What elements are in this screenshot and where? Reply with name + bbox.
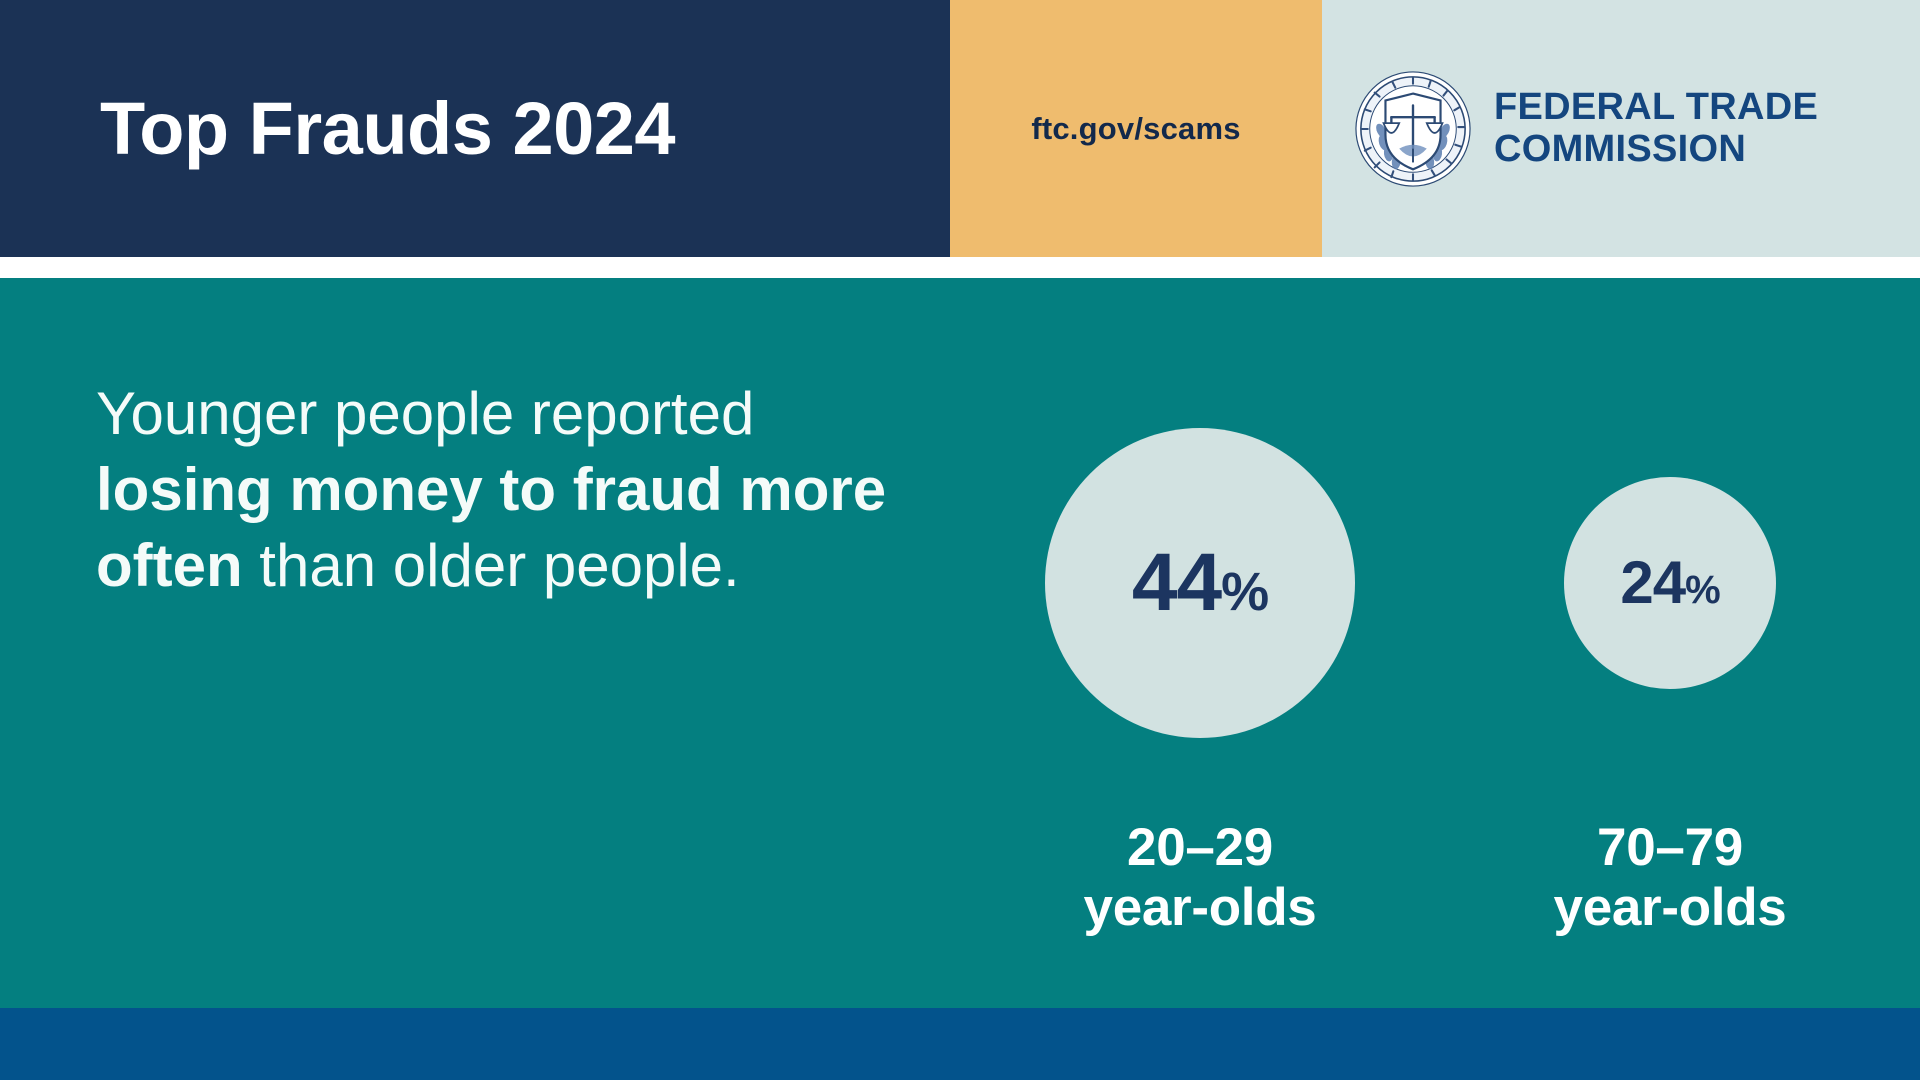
stat-bubble-wrapper: 44% xyxy=(1040,358,1360,808)
ftc-wordmark: FEDERAL TRADE COMMISSION xyxy=(1494,87,1818,169)
footer-accent-bar xyxy=(0,1008,1920,1080)
stat-group: 44% 20–29 year-olds 24% 70–79 year-olds xyxy=(1040,278,1860,1008)
ftc-scams-url[interactable]: ftc.gov/scams xyxy=(1031,111,1240,147)
header-title-band: Top Frauds 2024 xyxy=(0,0,950,257)
stat-label: 70–79 year-olds xyxy=(1510,818,1830,938)
header-logo-band: FEDERAL TRADE COMMISSION xyxy=(1322,0,1920,257)
stat-bubble-wrapper: 24% xyxy=(1510,358,1830,808)
stat-item-20-29: 44% 20–29 year-olds xyxy=(1040,278,1360,1008)
stat-bubble: 24% xyxy=(1564,477,1776,689)
stat-item-70-79: 24% 70–79 year-olds xyxy=(1510,278,1830,1008)
header: Top Frauds 2024 ftc.gov/scams xyxy=(0,0,1920,257)
statement-tail: than older people. xyxy=(243,532,740,599)
statement-lead: Younger people reported xyxy=(96,380,754,447)
stat-value: 24% xyxy=(1620,553,1719,613)
percent-sign: % xyxy=(1685,570,1720,610)
stat-bubble: 44% xyxy=(1045,428,1355,738)
stat-number: 24 xyxy=(1620,553,1685,613)
stat-number: 44 xyxy=(1132,542,1221,624)
ftc-seal-icon xyxy=(1354,70,1472,188)
header-url-band: ftc.gov/scams xyxy=(950,0,1322,257)
main-panel: Younger people reported losing money to … xyxy=(0,278,1920,1008)
stat-value: 44% xyxy=(1132,542,1268,624)
page-title: Top Frauds 2024 xyxy=(100,92,675,166)
stat-label: 20–29 year-olds xyxy=(1040,818,1360,938)
statement-text: Younger people reported losing money to … xyxy=(96,376,926,605)
infographic-canvas: Top Frauds 2024 ftc.gov/scams xyxy=(0,0,1920,1080)
percent-sign: % xyxy=(1221,565,1268,619)
